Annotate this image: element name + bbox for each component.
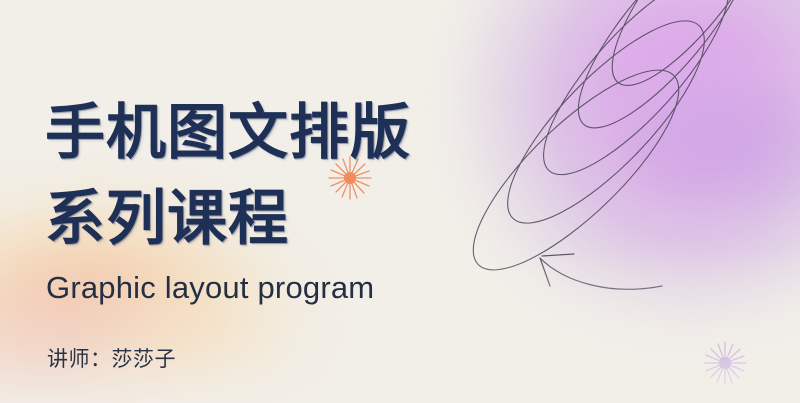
page-title-line-2: 系列课程 <box>45 189 289 249</box>
poster-text-block: 手机图文排版 系列课程 Graphic layout program 讲师：莎莎… <box>45 0 515 403</box>
course-poster: 手机图文排版 系列课程 Graphic layout program 讲师：莎莎… <box>0 0 800 403</box>
page-title-line-1: 手机图文排版 <box>45 103 411 163</box>
page-subtitle: Graphic layout program <box>46 272 374 303</box>
instructor-label: 讲师：莎莎子 <box>47 349 176 370</box>
sparkle-purple-icon <box>702 340 748 386</box>
